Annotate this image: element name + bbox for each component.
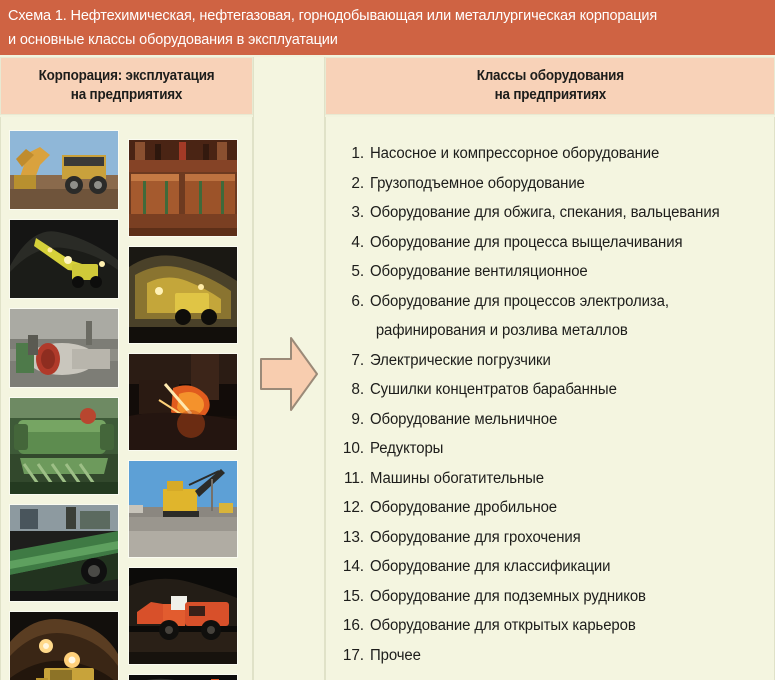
- left-column-header: Корпорация: эксплуатация на предприятиях: [0, 57, 253, 115]
- list-item-number: 8.: [339, 375, 364, 405]
- list-item: 7.Электрические погрузчики: [339, 346, 765, 376]
- list-item-label: Оборудование для грохочения: [370, 523, 753, 553]
- list-item-number: 2.: [339, 169, 364, 199]
- list-item-number: 5.: [339, 257, 364, 287]
- list-item-label: Оборудование вентиляционное: [370, 257, 753, 287]
- list-item-label: Электрические погрузчики: [370, 346, 753, 376]
- left-column-header-line-2: на предприятиях: [39, 86, 215, 105]
- right-column-header-line-2: на предприятиях: [476, 86, 623, 105]
- photo-green-grinding-mill: [10, 398, 118, 494]
- list-item: 2.Грузоподъемное оборудование: [339, 169, 765, 199]
- photo-column-left: [10, 131, 118, 680]
- list-item-label: Грузоподъемное оборудование: [370, 169, 753, 199]
- list-item: 8.Сушилки концентратов барабанные: [339, 375, 765, 405]
- list-item-number: 13.: [339, 523, 364, 553]
- schema-figure: Схема 1. Нефтехимическая, нефтегазовая, …: [0, 0, 775, 680]
- photo-excavator-loading-haul-truck: [10, 131, 118, 209]
- list-item-label: Оборудование для подземных рудников: [370, 582, 753, 612]
- photo-open-pit-electric-shovel: [129, 461, 237, 557]
- list-item-number: 16.: [339, 611, 364, 641]
- figure-title-banner: Схема 1. Нефтехимическая, нефтегазовая, …: [0, 0, 775, 55]
- photo-molten-metal-pouring: [129, 354, 237, 450]
- list-item: 6.Оборудование для процессов электролиза…: [339, 287, 765, 346]
- list-item: 17.Прочее: [339, 641, 765, 671]
- list-item-label: Оборудование мельничное: [370, 405, 753, 435]
- list-item-label-line-2: рафинирования и розлива металлов: [370, 316, 753, 346]
- list-item-label: Оборудование дробильное: [370, 493, 753, 523]
- list-item-label: Редукторы: [370, 434, 753, 464]
- list-item-number: 4.: [339, 228, 364, 258]
- right-column-header-line-1: Классы оборудования: [476, 67, 623, 86]
- list-item-number: 10.: [339, 434, 364, 464]
- list-item-number: 9.: [339, 405, 364, 435]
- photo-ball-mill-drive: [10, 309, 118, 387]
- list-item-label-line-1: Оборудование для процессов электролиза,: [370, 293, 669, 310]
- list-item: 12.Оборудование дробильное: [339, 493, 765, 523]
- list-item: 3.Оборудование для обжига, спекания, вал…: [339, 198, 765, 228]
- list-item: 10.Редукторы: [339, 434, 765, 464]
- photo-column-right: [129, 140, 237, 680]
- figure-title-line-2: и основные классы оборудования в эксплуа…: [8, 28, 735, 52]
- list-item-number: 15.: [339, 582, 364, 612]
- list-item: 11.Машины обогатительные: [339, 464, 765, 494]
- photo-copper-cathode-stacks: [129, 140, 237, 236]
- list-item-label: Оборудование для процессов электролиза,р…: [370, 287, 753, 346]
- list-item-label: Сушилки концентратов барабанные: [370, 375, 753, 405]
- photo-underground-drilling-jumbo-orange: [129, 675, 237, 680]
- right-column-header: Классы оборудования на предприятиях: [325, 57, 775, 115]
- list-item: 9.Оборудование мельничное: [339, 405, 765, 435]
- list-item-number: 12.: [339, 493, 364, 523]
- list-item-number: 3.: [339, 198, 364, 228]
- equipment-classes-list: 1.Насосное и компрессорное оборудование …: [325, 131, 775, 670]
- list-item: 5.Оборудование вентиляционное: [339, 257, 765, 287]
- list-item-number: 17.: [339, 641, 364, 671]
- photo-belt-conveyor: [10, 505, 118, 601]
- list-item: 14.Оборудование для классификации: [339, 552, 765, 582]
- photo-underground-loader-lit-tunnel: [10, 612, 118, 680]
- list-item-label: Прочее: [370, 641, 753, 671]
- list-item-label: Насосное и компрессорное оборудование: [370, 139, 753, 169]
- list-item-label: Оборудование для обжига, спекания, вальц…: [370, 198, 753, 228]
- right-arrow-icon: [258, 333, 320, 415]
- list-item-label: Оборудование для классификации: [370, 552, 753, 582]
- list-item: 4.Оборудование для процесса выщелачивани…: [339, 228, 765, 258]
- list-item-number: 1.: [339, 139, 364, 169]
- photo-underground-mining-machine: [129, 247, 237, 343]
- photo-underground-drill-rig: [10, 220, 118, 298]
- list-item-label: Оборудование для открытых карьеров: [370, 611, 753, 641]
- list-item: 16.Оборудование для открытых карьеров: [339, 611, 765, 641]
- list-item-number: 7.: [339, 346, 364, 376]
- list-item-label: Машины обогатительные: [370, 464, 753, 494]
- list-item: 15.Оборудование для подземных рудников: [339, 582, 765, 612]
- list-item-number: 6.: [339, 287, 364, 317]
- left-column-header-line-1: Корпорация: эксплуатация: [39, 67, 215, 86]
- list-item-number: 14.: [339, 552, 364, 582]
- list-item-label: Оборудование для процесса выщелачивания: [370, 228, 753, 258]
- photo-underground-lhd-loader-orange: [129, 568, 237, 664]
- figure-title-line-1: Схема 1. Нефтехимическая, нефтегазовая, …: [8, 4, 735, 28]
- list-item: 13.Оборудование для грохочения: [339, 523, 765, 553]
- list-item: 1.Насосное и компрессорное оборудование: [339, 139, 765, 169]
- list-item-number: 11.: [339, 464, 364, 494]
